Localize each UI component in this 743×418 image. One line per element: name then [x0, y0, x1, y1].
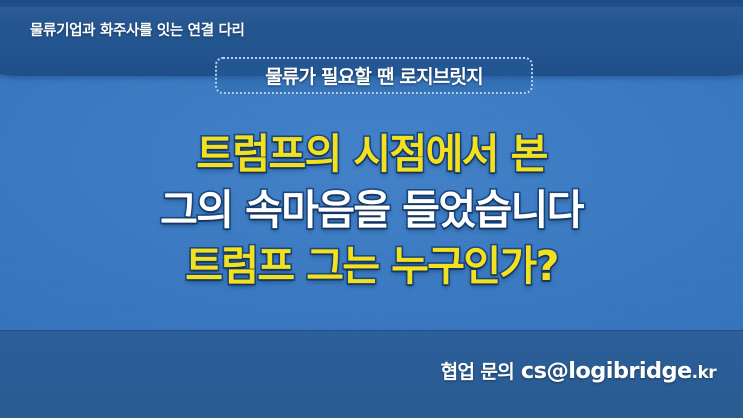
contact-email-local: cs@logibridge — [521, 358, 692, 384]
brand-kicker: 물류기업과 화주사를 잇는 연결 다리 — [30, 19, 245, 40]
contact-email-tld: .kr — [692, 363, 716, 383]
headline-line-2: 그의 속마음을 들었습니다 — [0, 182, 743, 238]
brand-badge-label: 물류가 필요할 땐 로지브릿지 — [265, 62, 483, 89]
brand-badge: 물류가 필요할 땐 로지브릿지 — [215, 57, 533, 94]
contact-label: 협업 문의 — [441, 361, 515, 383]
thumbnail-card: 물류기업과 화주사를 잇는 연결 다리 물류가 필요할 땐 로지브릿지 트럼프의… — [0, 0, 743, 418]
headline-line-3: 트럼프 그는 누구인가? — [0, 238, 743, 294]
top-edge-strip — [0, 0, 743, 7]
headline-block: 트럼프의 시점에서 본 그의 속마음을 들었습니다 트럼프 그는 누구인가? — [0, 126, 743, 294]
contact-line: 협업 문의 cs@logibridge.kr — [441, 357, 716, 384]
headline-line-1: 트럼프의 시점에서 본 — [0, 126, 743, 182]
